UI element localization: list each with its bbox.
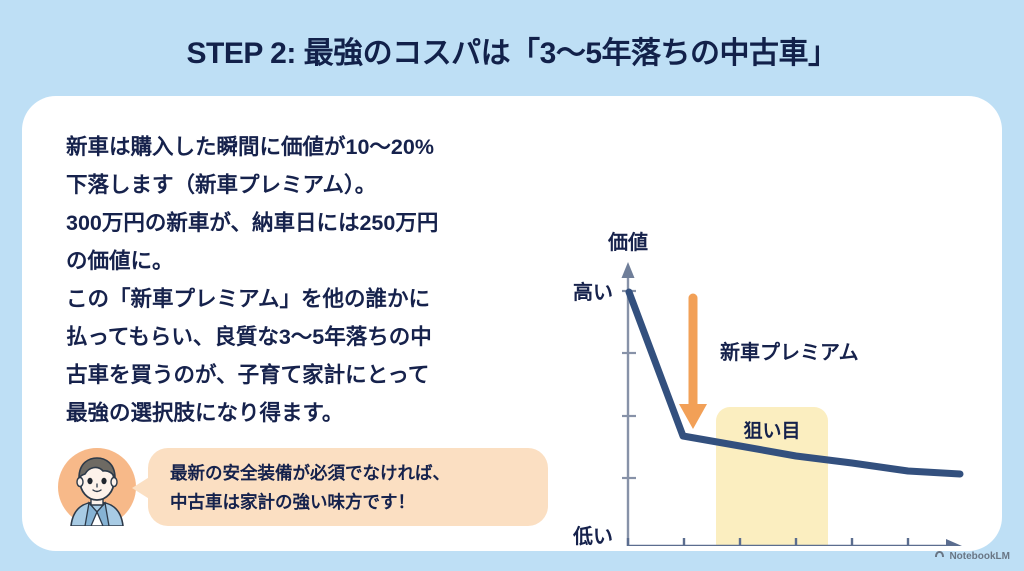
- body-line-5: この「新車プレミアム」を他の誰かに: [66, 280, 536, 318]
- notebooklm-logo-icon: [934, 549, 945, 563]
- x-axis: [628, 538, 962, 546]
- speech-bubble: 最新の安全装備が必須でなければ、 中古車は家計の強い味方です！: [148, 448, 548, 526]
- new-car-premium-label: 新車プレミアム: [720, 340, 859, 364]
- new-car-premium-arrow-icon: [679, 298, 707, 429]
- y-axis-low-label: 低い: [572, 524, 613, 546]
- speech-bubble-line-2: 中古車は家計の強い味方です！: [170, 488, 540, 517]
- watermark: NotebookLM: [934, 549, 1010, 563]
- avatar: [58, 448, 136, 526]
- watermark-label: NotebookLM: [949, 551, 1010, 562]
- y-axis-title: 価値: [607, 230, 648, 254]
- body-line-4: の価値に。: [66, 242, 536, 280]
- content-card: 新車は購入した瞬間に価値が10〜20% 下落します（新車プレミアム）。 300万…: [22, 96, 1002, 551]
- body-text-block: 新車は購入した瞬間に価値が10〜20% 下落します（新車プレミアム）。 300万…: [66, 128, 536, 432]
- body-line-1: 新車は購入した瞬間に価値が10〜20%: [66, 128, 536, 166]
- page-title: STEP 2: 最強のコスパは「3〜5年落ちの中古車」: [0, 28, 1024, 72]
- chart-svg: 価値 高い 低い 0 1 2 3 4 5 時間 （年） 新車プレミアム 狙い目 …: [550, 116, 990, 546]
- slide-root: STEP 2: 最強のコスパは「3〜5年落ちの中古車」 新車は購入した瞬間に価値…: [0, 0, 1024, 571]
- body-line-8: 最強の選択肢になり得ます。: [66, 394, 536, 432]
- body-line-3: 300万円の新車が、納車日には250万円: [66, 204, 536, 242]
- body-line-2: 下落します（新車プレミアム）。: [66, 166, 536, 204]
- speech-bubble-text: 最新の安全装備が必須でなければ、 中古車は家計の強い味方です！: [170, 459, 540, 517]
- body-line-7: 古車を買うのが、子育て家計にとって: [66, 356, 536, 394]
- depreciation-chart: 価値 高い 低い 0 1 2 3 4 5 時間 （年） 新車プレミアム 狙い目 …: [550, 116, 990, 546]
- speech-bubble-line-1: 最新の安全装備が必須でなければ、: [170, 459, 540, 488]
- y-axis-high-label: 高い: [573, 280, 613, 304]
- body-line-6: 払ってもらい、良質な3〜5年落ちの中: [66, 318, 536, 356]
- sweet-spot-label-top: 狙い目: [743, 420, 800, 442]
